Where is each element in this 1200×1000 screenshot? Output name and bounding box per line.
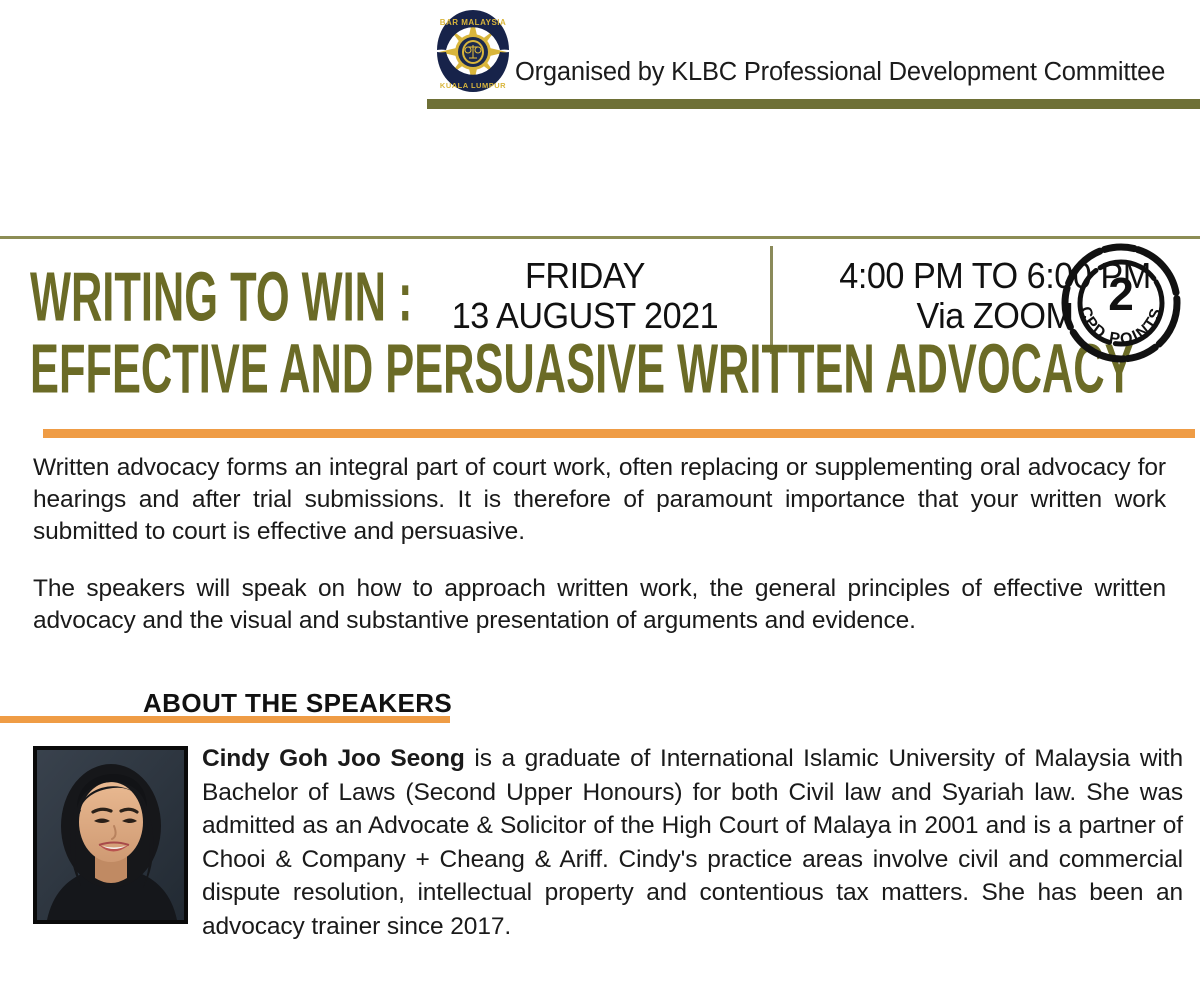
header-olive-bar bbox=[427, 99, 1200, 109]
cpd-points-number: 2 bbox=[1108, 268, 1134, 320]
event-datetime-block: FRIDAY 13 AUGUST 2021 4:00 PM TO 6:00 PM… bbox=[0, 120, 1200, 235]
about-speakers-orange-rule bbox=[0, 716, 450, 723]
event-flyer: BAR MALAYSIA KUALA LUMPUR Organised by K… bbox=[0, 0, 1200, 1000]
speaker-photo-cindy-goh bbox=[33, 746, 188, 924]
description-paragraph-2: The speakers will speak on how to approa… bbox=[33, 573, 1166, 637]
about-speakers-heading: ABOUT THE SPEAKERS bbox=[143, 688, 452, 719]
cpd-points-stamp: 2 CPD POINTS bbox=[1058, 240, 1184, 366]
svg-text:KUALA LUMPUR: KUALA LUMPUR bbox=[440, 81, 506, 90]
description-block: Written advocacy forms an integral part … bbox=[33, 452, 1166, 662]
title-orange-rule bbox=[43, 429, 1195, 438]
description-paragraph-1: Written advocacy forms an integral part … bbox=[33, 452, 1166, 548]
flyer-title: WRITING TO WIN : EFFECTIVE AND PERSUASIV… bbox=[30, 262, 1200, 406]
organiser-text: Organised by KLBC Professional Developme… bbox=[515, 58, 1165, 87]
title-line-2: EFFECTIVE AND PERSUASIVE WRITTEN ADVOCAC… bbox=[30, 330, 849, 411]
speaker-name: Cindy Goh Joo Seong bbox=[202, 745, 465, 772]
svg-text:BAR MALAYSIA: BAR MALAYSIA bbox=[440, 18, 507, 27]
title-line-1: WRITING TO WIN : bbox=[30, 258, 849, 339]
flyer-header: BAR MALAYSIA KUALA LUMPUR Organised by K… bbox=[0, 0, 1200, 118]
olive-divider-rule bbox=[0, 236, 1200, 239]
speaker-bio-text: is a graduate of International Islamic U… bbox=[202, 745, 1183, 940]
klbc-crest-logo: BAR MALAYSIA KUALA LUMPUR bbox=[427, 4, 519, 100]
speaker-bio: Cindy Goh Joo Seong is a graduate of Int… bbox=[33, 742, 1183, 943]
speaker-entry: Cindy Goh Joo Seong is a graduate of Int… bbox=[33, 742, 1183, 943]
